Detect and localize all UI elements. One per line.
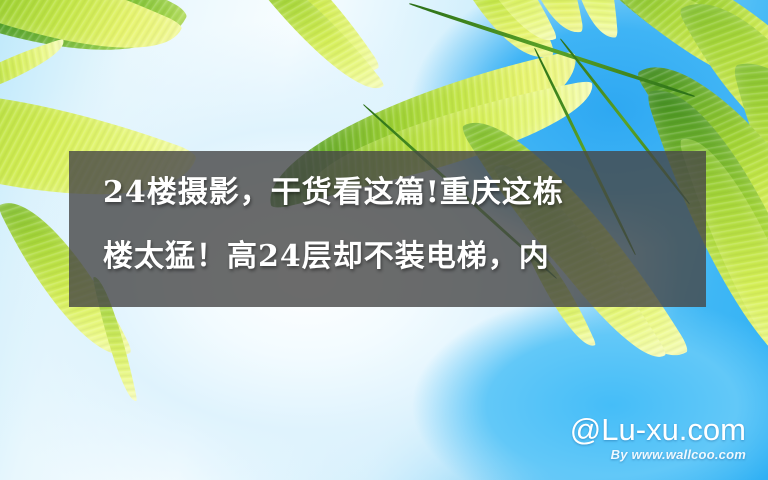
caption-line-1: 24楼摄影，干货看这篇!重庆这栋 xyxy=(103,161,696,225)
screenshot-canvas: 24楼摄影，干货看这篇!重庆这栋 楼太猛！高24层却不装电梯，内 @Lu-xu.… xyxy=(0,0,768,480)
caption-line-2: 楼太猛！高24层却不装电梯，内 xyxy=(103,225,696,289)
caption-banner: 24楼摄影，干货看这篇!重庆这栋 楼太猛！高24层却不装电梯，内 xyxy=(69,151,706,307)
